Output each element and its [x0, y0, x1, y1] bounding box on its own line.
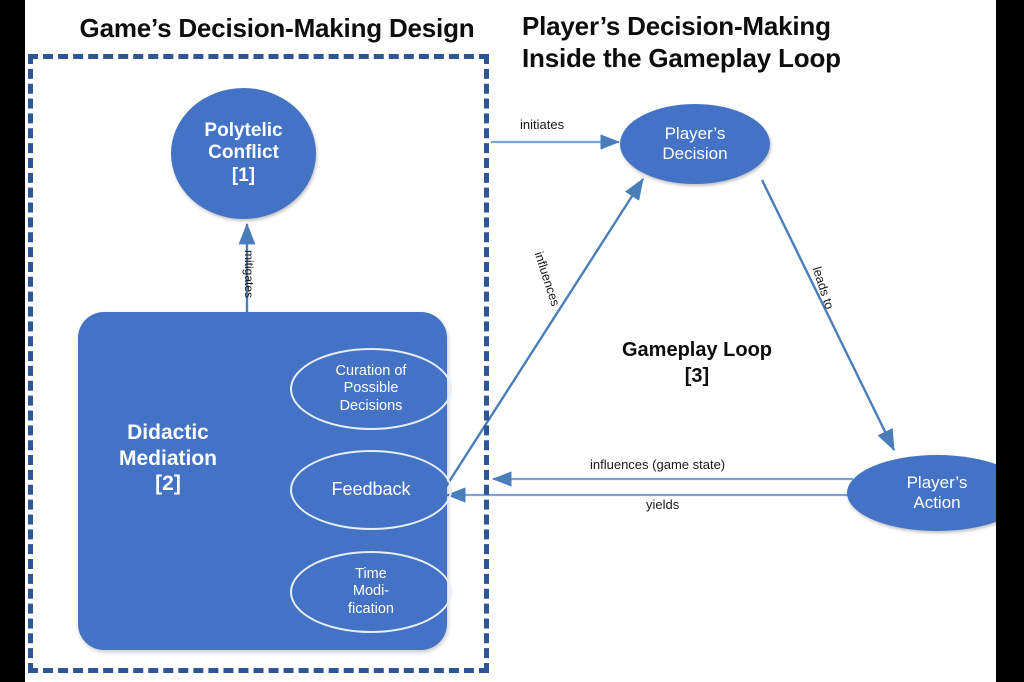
edge-label-yields: yields	[646, 497, 679, 512]
diagram-page: Game’s Decision-Making Design Player’s D…	[25, 0, 996, 682]
node-players-decision[interactable]: Player’s Decision	[620, 104, 770, 184]
node-polytelic-conflict[interactable]: Polytelic Conflict [1]	[171, 88, 316, 219]
edge-label-initiates: initiates	[520, 117, 564, 132]
node-feedback[interactable]: Feedback	[290, 450, 452, 530]
page-title-right: Player’s Decision-Making Inside the Game…	[522, 11, 922, 74]
edge-label-influences-game-state: influences (game state)	[590, 457, 725, 472]
node-didactic-mediation-label: Didactic Mediation [2]	[78, 420, 258, 497]
page-title-left: Game’s Decision-Making Design	[52, 13, 502, 45]
node-curation-of-possible-decisions[interactable]: Curation of Possible Decisions	[290, 348, 452, 430]
edge-leads-to	[762, 180, 894, 450]
node-time-modification[interactable]: Time Modi- fication	[290, 551, 452, 633]
diagram-canvas: Game’s Decision-Making Design Player’s D…	[0, 0, 1024, 682]
label-gameplay-loop: Gameplay Loop [3]	[592, 337, 802, 389]
edge-label-mitigates: mitigates	[242, 250, 256, 298]
